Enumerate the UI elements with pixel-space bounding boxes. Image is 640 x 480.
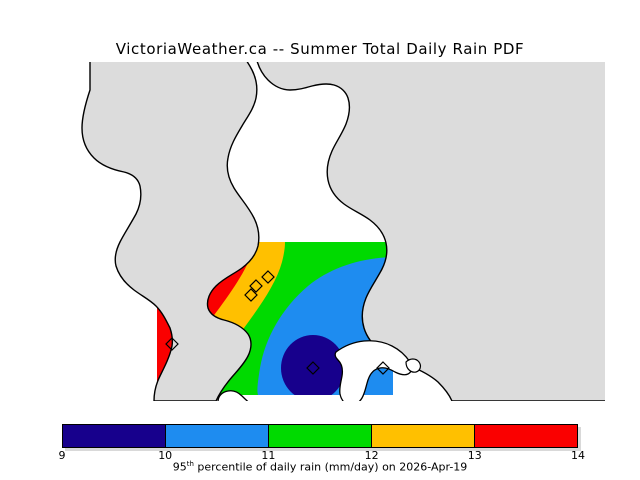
colorbar-segments[interactable] (62, 424, 578, 448)
colorbar-caption: 95th percentile of daily rain (mm/day) o… (0, 460, 640, 474)
colorbar-segment-10-11[interactable] (165, 425, 268, 447)
map-panel[interactable] (20, 62, 605, 401)
weather-map-page: VictoriaWeather.ca -- Summer Total Daily… (0, 0, 640, 480)
colorbar-segment-11-12[interactable] (268, 425, 371, 447)
colorbar-segment-9-10[interactable] (63, 425, 165, 447)
colorbar-segment-13-14[interactable] (474, 425, 577, 447)
map-canvas[interactable] (20, 62, 605, 401)
contour-band-9-10 (281, 335, 345, 401)
page-title: VictoriaWeather.ca -- Summer Total Daily… (0, 40, 640, 58)
left-sea-filler (20, 62, 60, 401)
colorbar-caption-rest: percentile of daily rain (mm/day) on 202… (194, 461, 467, 474)
colorbar-segment-12-13[interactable] (371, 425, 474, 447)
colorbar-caption-superscript: th (187, 460, 194, 468)
colorbar-caption-prefix: 95 (173, 461, 187, 474)
colorbar[interactable] (62, 424, 578, 448)
